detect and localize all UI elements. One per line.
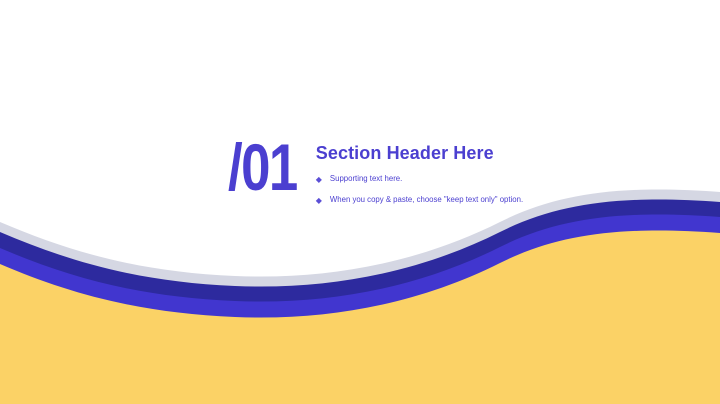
section-text-column: Section Header Here ◆ Supporting text he… [316,134,523,206]
list-item: ◆ When you copy & paste, choose "keep te… [316,194,523,206]
list-item-label: When you copy & paste, choose "keep text… [330,194,523,205]
section-content-block: /01 Section Header Here ◆ Supporting tex… [228,134,523,206]
slide-canvas: /01 Section Header Here ◆ Supporting tex… [0,0,720,404]
list-item-label: Supporting text here. [330,173,402,184]
wave-layer-yellow [0,231,720,404]
page-title: Section Header Here [316,144,523,164]
diamond-bullet-icon: ◆ [316,174,322,185]
diamond-bullet-icon: ◆ [316,195,322,206]
list-item: ◆ Supporting text here. [316,173,523,185]
bullet-list: ◆ Supporting text here. ◆ When you copy … [316,173,523,206]
section-number: /01 [228,136,297,199]
